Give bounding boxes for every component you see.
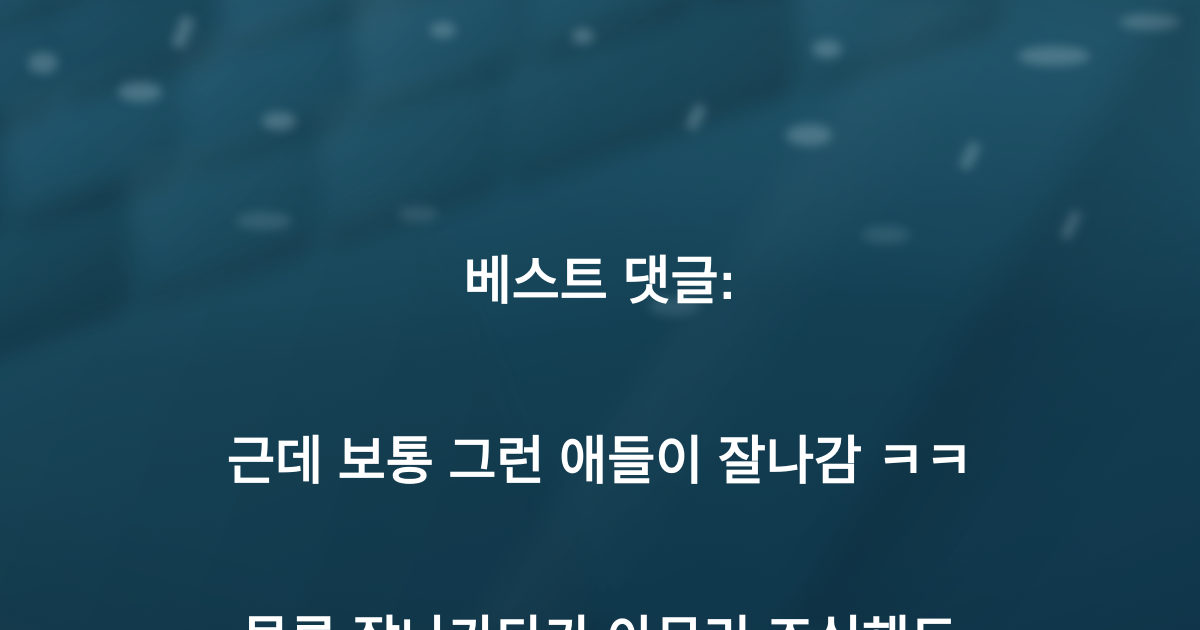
- keycap-legend-speck: [28, 52, 58, 74]
- keyboard-row: [0, 0, 1186, 36]
- keycap-legend-speck: [171, 15, 196, 50]
- keycap-legend-speck: [1018, 46, 1090, 66]
- keycap-legend-speck: [572, 28, 594, 44]
- keyboard-row: [0, 0, 1197, 154]
- social-quote-card: 베스트 댓글: 근데 보통 그런 애들이 잘나감 ㅋㅋ 물론 잘나가다가 아무리…: [0, 0, 1200, 630]
- keycap-legend-speck: [812, 40, 842, 58]
- keycap-legend-speck: [685, 103, 707, 132]
- keycap-legend-speck: [430, 22, 456, 38]
- caption-line-3: 물론 잘나가다가 아무리 조심해도: [0, 612, 1200, 630]
- keycap-legend-speck: [262, 112, 296, 130]
- quote-caption: 베스트 댓글: 근데 보통 그런 애들이 잘나감 ㅋㅋ 물론 잘나가다가 아무리…: [0, 132, 1200, 630]
- keycap-legend-speck: [1120, 14, 1180, 30]
- caption-line-2: 근데 보통 그런 애들이 잘나감 ㅋㅋ: [0, 432, 1200, 492]
- caption-line-1: 베스트 댓글:: [0, 252, 1200, 312]
- keycap-legend-speck: [118, 82, 162, 102]
